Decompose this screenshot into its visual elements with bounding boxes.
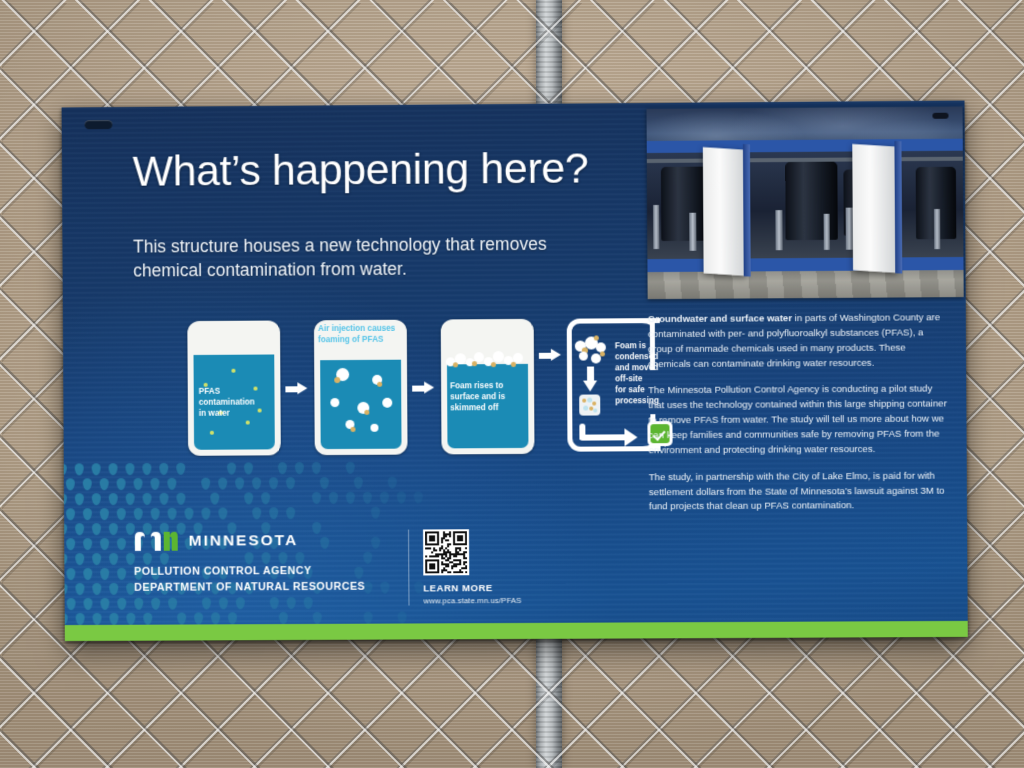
agency-line-1: POLLUTION CONTROL AGENCY — [134, 563, 365, 580]
minnesota-wordmark: MINNESOTA — [189, 532, 299, 551]
diagram-step-1-beaker: PFAS contamination in water — [187, 320, 281, 455]
photo-container-top-band — [647, 139, 963, 153]
qr-code-icon[interactable] — [423, 529, 469, 575]
mounting-bracket — [85, 120, 113, 129]
photo-of-informational-sign: What’s happening here? This structure ho… — [0, 0, 1024, 768]
learn-more-url: www.pca.state.mn.us/PFAS — [423, 596, 521, 605]
body-paragraph: The Minnesota Pollution Control Agency i… — [648, 383, 949, 459]
diagram-step-3-beaker: Foam rises to surface and is skimmed off — [441, 319, 535, 455]
photo-door-right-edge — [894, 141, 902, 274]
photo-camera-fixture — [932, 113, 948, 119]
diagram-arrow-3 — [539, 349, 561, 362]
page-title: What’s happening here? — [133, 147, 589, 193]
photo-door-right — [852, 144, 897, 273]
learn-more-block[interactable]: LEARN MORE www.pca.state.mn.us/PFAS — [408, 529, 522, 606]
photo-door-left-edge — [743, 144, 751, 277]
photo-door-left — [703, 147, 746, 276]
photo-ground — [647, 270, 963, 299]
diagram-step-3-label: Foam rises to surface and is skimmed off — [450, 381, 505, 414]
diagram-arrow-1 — [285, 382, 307, 395]
condensed-foam-box — [579, 394, 600, 415]
body-paragraph: Groundwater and surface water in parts o… — [648, 311, 949, 372]
body-paragraph: The study, in partnership with the City … — [649, 469, 950, 515]
body-paragraph-lead: Groundwater and surface water — [648, 313, 792, 325]
container-photo — [646, 107, 963, 300]
diagram-arrow-2 — [412, 381, 434, 394]
diagram-step-2-label: Air injection causes foaming of PFAS — [318, 324, 395, 346]
diagram-step-1-label: PFAS contamination in water — [199, 387, 255, 420]
learn-more-label: LEARN MORE — [423, 583, 521, 594]
agency-logo-block: MINNESOTA POLLUTION CONTROL AGENCY DEPAR… — [134, 530, 365, 596]
diagram-elbow-arrow — [579, 423, 643, 447]
pfas-process-diagram: PFAS contamination in water Air injectio… — [123, 318, 633, 466]
body-copy: Groundwater and surface water in parts o… — [648, 311, 950, 527]
minnesota-mn-mark-icon — [134, 531, 178, 552]
photo-container-interior — [647, 151, 964, 259]
agency-line-2: DEPARTMENT OF NATURAL RESOURCES — [134, 579, 365, 596]
subtitle: This structure houses a new technology t… — [133, 231, 602, 282]
information-sign: What’s happening here? This structure ho… — [62, 101, 968, 642]
down-arrow-icon — [583, 366, 598, 392]
